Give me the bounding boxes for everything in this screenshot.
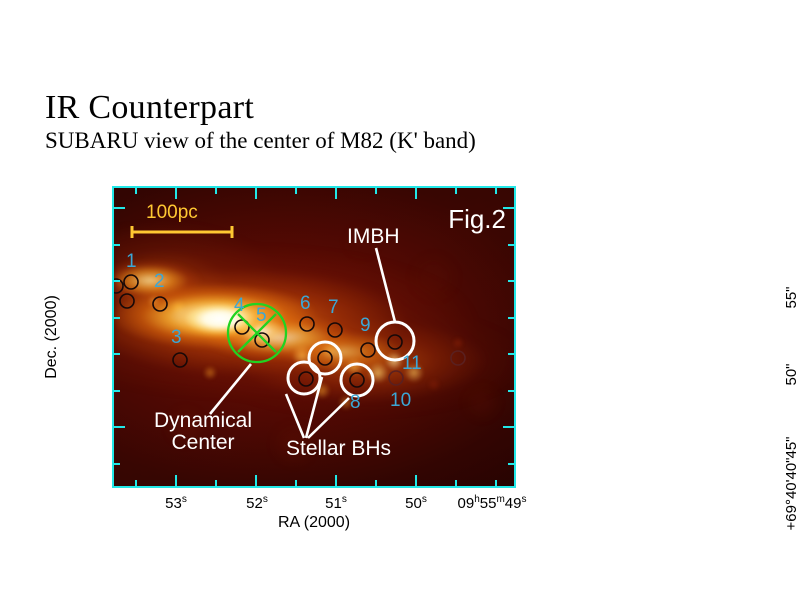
source-marker-1b [124, 275, 138, 289]
y-tick-left-4 [114, 244, 120, 246]
source-label-6: 6 [300, 294, 311, 313]
y-tick-right-4 [508, 244, 514, 246]
ir-image-plot[interactable]: 100pc Fig.2 IMBH Dynamical Center Stella… [112, 186, 516, 488]
source-marker-10 [389, 371, 403, 385]
imbh-pointer [376, 248, 395, 322]
x-tick-top-10 [415, 188, 417, 199]
source-label-11: 11 [402, 354, 422, 373]
x-tick-label-2: 51s [325, 494, 347, 512]
source-marker-6 [300, 317, 314, 331]
source-marker-7 [328, 323, 342, 337]
x-tick-label-0: 53s [165, 494, 187, 512]
source-label-9: 9 [360, 316, 371, 335]
y-tick-left-7 [114, 353, 120, 355]
figure-container: Dec. (2000) 55" 50" 45" +69°40'40" [0, 0, 800, 600]
figure-number-label: Fig.2 [448, 204, 506, 235]
x-tick-top-3 [135, 188, 137, 194]
x-tick-bottom-5 [215, 480, 217, 486]
source-marker-8 [350, 373, 364, 387]
y-tick-left-9 [114, 426, 125, 428]
y-tick-right-7 [508, 353, 514, 355]
x-tick-top-9 [375, 188, 377, 194]
y-tick-left-8 [114, 390, 120, 392]
source-label-5: 5 [256, 306, 267, 325]
source-marker-3 [173, 353, 187, 367]
stellar-bhs-annotation-label: Stellar BHs [286, 438, 391, 460]
stellar-bh-pointer-1 [286, 394, 304, 438]
x-tick-top-11 [455, 188, 457, 194]
x-tick-bottom-8 [335, 475, 337, 486]
y-tick-right-8 [508, 390, 514, 392]
source-label-1: 1 [126, 252, 137, 271]
x-tick-top-5 [215, 188, 217, 194]
source-label-2: 2 [154, 272, 165, 291]
scalebar-label: 100pc [146, 202, 198, 224]
x-tick-bottom-4 [175, 475, 177, 486]
y-tick-right-10 [508, 463, 514, 465]
x-tick-bottom-10 [415, 475, 417, 486]
x-tick-bottom-3 [135, 480, 137, 486]
x-axis-title: RA (2000) [278, 514, 350, 532]
source-marker-5 [255, 333, 269, 347]
y-tick-right-5 [508, 280, 514, 282]
x-tick-label-1: 52s [246, 494, 268, 512]
y-tick-left-5 [114, 280, 120, 282]
stellar-bh-circle-1 [309, 342, 341, 374]
x-tick-top-8 [335, 188, 337, 199]
x-tick-bottom-11 [455, 480, 457, 486]
source-marker-9 [361, 343, 375, 357]
source-label-7: 7 [328, 298, 339, 317]
stellar-bh-circle-2 [288, 362, 320, 394]
x-tick-top-7 [295, 188, 297, 194]
x-tick-bottom-12 [495, 480, 497, 486]
y-tick-right-3 [503, 207, 514, 209]
scalebar [132, 226, 232, 238]
x-tick-label-3: 50s [405, 494, 427, 512]
source-label-8: 8 [350, 393, 361, 412]
source-marker-11b [451, 351, 465, 365]
source-marker-2 [153, 297, 167, 311]
source-marker-bh-a [318, 351, 332, 365]
x-tick-bottom-9 [375, 480, 377, 486]
source-label-4: 4 [234, 296, 245, 315]
source-marker-imbh [388, 335, 402, 349]
y-axis-title: Dec. (2000) [43, 295, 61, 379]
source-label-3: 3 [171, 328, 182, 347]
y-tick-label-3: +69°40'40" [783, 439, 800, 531]
y-tick-right-9 [503, 426, 514, 428]
y-tick-left-10 [114, 463, 120, 465]
source-label-10: 10 [390, 391, 411, 410]
x-tick-top-6 [255, 188, 257, 199]
dynamical-center-line-1: Dynamical [154, 410, 252, 432]
source-marker-1c [120, 294, 134, 308]
y-tick-left-6 [114, 317, 120, 319]
x-tick-bottom-6 [255, 475, 257, 486]
y-tick-left-3 [114, 207, 125, 209]
y-tick-right-6 [508, 317, 514, 319]
dynamical-center-line-2: Center [154, 432, 252, 454]
x-tick-bottom-7 [295, 480, 297, 486]
dynamical-center-pointer [210, 364, 251, 414]
imbh-annotation-label: IMBH [347, 226, 400, 248]
x-tick-label-4: 09h55m49s [458, 494, 527, 512]
source-marker-bh-b [299, 372, 313, 386]
x-tick-top-12 [495, 188, 497, 194]
dynamical-center-annotation-label: Dynamical Center [154, 410, 252, 454]
x-tick-top-4 [175, 188, 177, 199]
